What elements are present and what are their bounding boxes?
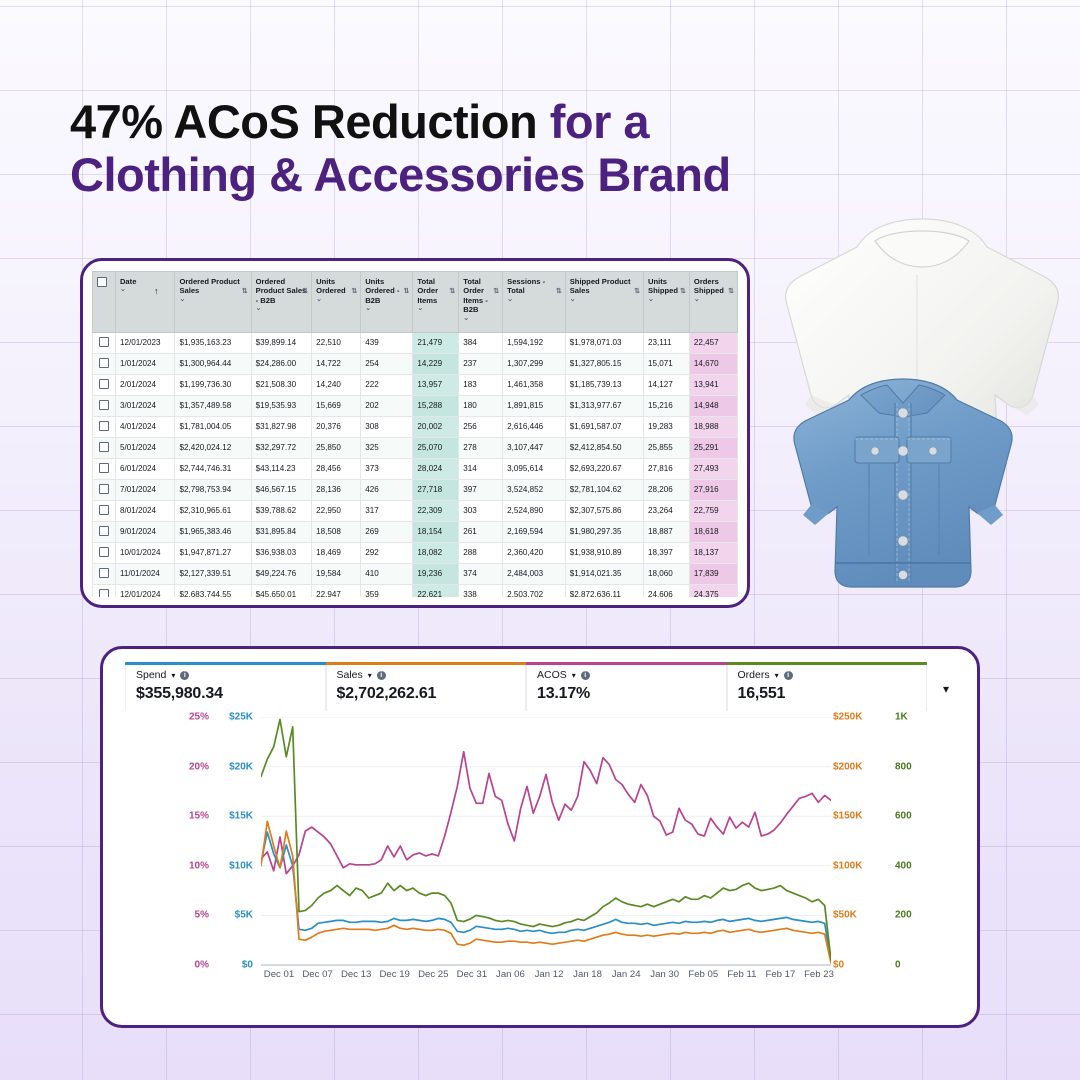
row-checkbox-cell[interactable] xyxy=(93,584,116,597)
row-checkbox-cell[interactable] xyxy=(93,521,116,542)
table-cell: $46,567.15 xyxy=(251,479,312,500)
collapse-panel-chevron-down-icon[interactable]: ▾ xyxy=(927,662,965,696)
row-checkbox[interactable] xyxy=(99,547,109,557)
sort-icon[interactable]: ⇅ xyxy=(728,288,734,297)
table-cell: 28,136 xyxy=(312,479,361,500)
x-axis-tick: Feb 17 xyxy=(765,969,795,980)
table-cell: 18,082 xyxy=(413,542,459,563)
chevron-down-icon[interactable]: ▾ xyxy=(171,671,175,680)
column-header-label: Total Order Items xyxy=(417,277,438,305)
table-row[interactable]: 10/01/2024$1,947,871.27$36,938.0318,4692… xyxy=(93,542,738,563)
table-cell: 237 xyxy=(459,353,503,374)
table-cell: 18,137 xyxy=(689,542,737,563)
table-cell: 2,524,890 xyxy=(503,500,566,521)
kpi-label-row-sales: Sales ▾ i xyxy=(337,669,516,681)
y-axis-acos: 0%5%10%15%20%25% xyxy=(165,717,209,965)
table-cell: 325 xyxy=(361,437,413,458)
sort-icon[interactable]: ⇅ xyxy=(556,288,562,297)
table-cell: 373 xyxy=(361,458,413,479)
sort-icon[interactable]: ⇅ xyxy=(351,288,357,297)
table-cell: $45,650.01 xyxy=(251,584,312,597)
column-header-units-shipped[interactable]: Units Shipped⌄⇅ xyxy=(644,272,690,333)
table-cell: 24,375 xyxy=(689,584,737,597)
table-cell: 22,510 xyxy=(312,332,361,353)
sort-icon[interactable]: ⇅ xyxy=(493,288,499,297)
table-cell: 22,950 xyxy=(312,500,361,521)
info-icon[interactable]: i xyxy=(581,671,590,680)
table-cell: 338 xyxy=(459,584,503,597)
chevron-down-icon[interactable]: ▾ xyxy=(368,671,372,680)
x-axis-dates: Dec 01Dec 07Dec 13Dec 19Dec 25Dec 31Jan … xyxy=(261,969,831,987)
x-axis-tick: Jan 06 xyxy=(496,969,525,980)
table-cell: $31,895.84 xyxy=(251,521,312,542)
x-axis-tick: Dec 19 xyxy=(380,969,410,980)
table-cell: 8/01/2024 xyxy=(115,500,174,521)
column-header-ordered-product-sales[interactable]: Ordered Product Sales⌄⇅ xyxy=(175,272,251,333)
table-cell: 21,479 xyxy=(413,332,459,353)
table-cell: 6/01/2024 xyxy=(115,458,174,479)
table-cell: 1,307,299 xyxy=(503,353,566,374)
chevron-down-icon[interactable]: ⌄ xyxy=(120,287,170,293)
x-axis-tick: Dec 31 xyxy=(457,969,487,980)
table-cell: 278 xyxy=(459,437,503,458)
table-cell: 7/01/2024 xyxy=(115,479,174,500)
chevron-down-icon[interactable]: ⌄ xyxy=(694,297,733,303)
kpi-card-orders[interactable]: Orders ▾ i 16,551 xyxy=(727,662,928,711)
table-cell: 28,206 xyxy=(644,479,690,500)
table-cell: 2,484,003 xyxy=(503,563,566,584)
chart-line-acos xyxy=(261,752,831,874)
table-cell: 3/01/2024 xyxy=(115,395,174,416)
row-checkbox-cell[interactable] xyxy=(93,458,116,479)
chevron-down-icon[interactable]: ⌄ xyxy=(316,297,356,303)
kpi-label-acos: ACOS xyxy=(537,669,567,681)
row-checkbox-cell[interactable] xyxy=(93,395,116,416)
table-cell: $32,297.72 xyxy=(251,437,312,458)
table-cell: 20,002 xyxy=(413,416,459,437)
table-cell: $1,978,071.03 xyxy=(565,332,643,353)
sort-icon[interactable]: ⇅ xyxy=(634,288,640,297)
x-axis-tick: Dec 13 xyxy=(341,969,371,980)
headline-line1-accent: for a xyxy=(550,95,649,148)
kpi-label-row-orders: Orders ▾ i xyxy=(738,669,917,681)
table-cell: 2,360,420 xyxy=(503,542,566,563)
x-axis-tick: Jan 18 xyxy=(573,969,602,980)
y-axis-sales: $0$50K$100K$150K$200K$250K xyxy=(833,717,893,965)
kpi-accent-bar-spend xyxy=(125,662,326,665)
table-cell: 292 xyxy=(361,542,413,563)
axis-tick-spend: $15K xyxy=(229,811,253,822)
table-cell: $2,683,744.55 xyxy=(175,584,251,597)
table-cell: 27,493 xyxy=(689,458,737,479)
table-cell: 23,264 xyxy=(644,500,690,521)
kpi-value-spend: $355,980.34 xyxy=(136,685,315,703)
headline-line2: Clothing & Accessories Brand xyxy=(70,149,860,202)
axis-tick-orders: 400 xyxy=(895,860,912,871)
row-checkbox-cell[interactable] xyxy=(93,500,116,521)
table-cell: 256 xyxy=(459,416,503,437)
table-cell: 14,722 xyxy=(312,353,361,374)
table-cell: 397 xyxy=(459,479,503,500)
table-cell: 19,584 xyxy=(312,563,361,584)
table-cell: $1,357,489.58 xyxy=(175,395,251,416)
column-header-units-ordered-b2b[interactable]: Units Ordered - B2B⌄⇅ xyxy=(361,272,413,333)
table-row[interactable]: 8/01/2024$2,310,965.61$39,788.6222,95031… xyxy=(93,500,738,521)
row-checkbox[interactable] xyxy=(99,421,109,431)
kpi-label-spend: Spend xyxy=(136,669,166,681)
chevron-down-icon[interactable]: ⌄ xyxy=(507,297,561,303)
column-header-orders-shipped[interactable]: Orders Shipped⌄⇅ xyxy=(689,272,737,333)
product-photos xyxy=(757,205,1080,645)
chevron-down-icon[interactable]: ⌄ xyxy=(570,297,639,303)
row-checkbox[interactable] xyxy=(99,358,109,368)
table-cell: $39,899.14 xyxy=(251,332,312,353)
table-cell: $1,781,004.05 xyxy=(175,416,251,437)
table-cell: 303 xyxy=(459,500,503,521)
table-cell: 288 xyxy=(459,542,503,563)
axis-tick-orders: 600 xyxy=(895,811,912,822)
table-cell: 261 xyxy=(459,521,503,542)
row-checkbox-cell[interactable] xyxy=(93,542,116,563)
table-cell: 15,288 xyxy=(413,395,459,416)
x-axis-tick: Jan 24 xyxy=(612,969,641,980)
table-cell: 25,850 xyxy=(312,437,361,458)
table-cell: $2,412,854.50 xyxy=(565,437,643,458)
axis-tick-acos: 5% xyxy=(195,910,209,921)
table-cell: $31,827.98 xyxy=(251,416,312,437)
table-cell: 439 xyxy=(361,332,413,353)
axis-tick-spend: $10K xyxy=(229,860,253,871)
table-cell: 4/01/2024 xyxy=(115,416,174,437)
table-cell: 269 xyxy=(361,521,413,542)
axis-tick-orders: 1K xyxy=(895,712,908,723)
table-cell: 18,887 xyxy=(644,521,690,542)
table-cell: 28,024 xyxy=(413,458,459,479)
table-cell: 2/01/2024 xyxy=(115,374,174,395)
table-cell: 254 xyxy=(361,353,413,374)
denim-jacket-photo xyxy=(794,379,1012,587)
kpi-card-sales[interactable]: Sales ▾ i $2,702,262.61 xyxy=(326,662,527,711)
table-cell: $36,938.03 xyxy=(251,542,312,563)
x-axis-tick: Dec 07 xyxy=(302,969,332,980)
axis-tick-acos: 20% xyxy=(189,761,209,772)
table-cell: $49,224.76 xyxy=(251,563,312,584)
row-checkbox-cell[interactable] xyxy=(93,479,116,500)
sort-icon[interactable]: ⇅ xyxy=(449,288,455,297)
row-checkbox-cell[interactable] xyxy=(93,332,116,353)
table-cell: 25,291 xyxy=(689,437,737,458)
axis-tick-sales: $150K xyxy=(833,811,862,822)
table-cell: 314 xyxy=(459,458,503,479)
info-icon[interactable]: i xyxy=(784,671,793,680)
table-row[interactable]: 11/01/2024$2,127,339.51$49,224.7619,5844… xyxy=(93,563,738,584)
axis-tick-sales: $250K xyxy=(833,712,862,723)
row-checkbox[interactable] xyxy=(99,379,109,389)
x-axis-tick: Dec 25 xyxy=(418,969,448,980)
column-header-label: Sessions - Total xyxy=(507,277,545,295)
table-row[interactable]: 2/01/2024$1,199,736.30$21,508.3014,24022… xyxy=(93,374,738,395)
column-header-label: Ordered Product Sales xyxy=(179,277,239,295)
table-cell: 22,309 xyxy=(413,500,459,521)
kpi-value-orders: 16,551 xyxy=(738,685,917,703)
table-header-row: Date⌄↑Ordered Product Sales⌄⇅Ordered Pro… xyxy=(93,272,738,333)
row-checkbox[interactable] xyxy=(99,526,109,536)
table-scroll-region[interactable]: Date⌄↑Ordered Product Sales⌄⇅Ordered Pro… xyxy=(92,271,738,597)
table-cell: 18,508 xyxy=(312,521,361,542)
kpi-value-acos: 13.17% xyxy=(537,685,716,703)
kpi-accent-bar-orders xyxy=(727,662,928,665)
table-cell: 2,169,594 xyxy=(503,521,566,542)
table-cell: 359 xyxy=(361,584,413,597)
table-cell: 374 xyxy=(459,563,503,584)
column-header-ordered-product-sales-b2b[interactable]: Ordered Product Sales - B2B⌄⇅ xyxy=(251,272,312,333)
table-cell: 10/01/2024 xyxy=(115,542,174,563)
row-checkbox[interactable] xyxy=(99,484,109,494)
chart-line-orders xyxy=(261,720,831,961)
table-cell: 18,988 xyxy=(689,416,737,437)
table-cell: $1,199,736.30 xyxy=(175,374,251,395)
table-cell: 13,957 xyxy=(413,374,459,395)
table-cell: $39,788.62 xyxy=(251,500,312,521)
row-checkbox[interactable] xyxy=(99,505,109,515)
table-cell: 18,154 xyxy=(413,521,459,542)
table-cell: 12/01/2024 xyxy=(115,584,174,597)
info-icon[interactable]: i xyxy=(180,671,189,680)
table-cell: 11/01/2024 xyxy=(115,563,174,584)
axis-tick-orders: 200 xyxy=(895,910,912,921)
table-cell: 15,669 xyxy=(312,395,361,416)
table-row[interactable]: 4/01/2024$1,781,004.05$31,827.9820,37630… xyxy=(93,416,738,437)
table-cell: 18,618 xyxy=(689,521,737,542)
table-cell: $2,127,339.51 xyxy=(175,563,251,584)
axis-tick-orders: 800 xyxy=(895,761,912,772)
row-checkbox-cell[interactable] xyxy=(93,374,116,395)
axis-tick-acos: 25% xyxy=(189,712,209,723)
kpi-card-acos[interactable]: ACOS ▾ i 13.17% xyxy=(526,662,727,711)
column-header-label: Units Shipped xyxy=(648,277,678,295)
table-cell: 27,718 xyxy=(413,479,459,500)
x-axis-tick: Jan 12 xyxy=(535,969,564,980)
headline-line1-black: 47% ACoS Reduction xyxy=(70,95,550,148)
table-cell: $21,508.30 xyxy=(251,374,312,395)
sort-icon[interactable]: ⇅ xyxy=(680,288,686,297)
column-header-label: Units Ordered xyxy=(316,277,346,295)
chevron-down-icon[interactable]: ⌄ xyxy=(417,306,454,312)
campaign-chart-panel: Spend ▾ i $355,980.34 Sales ▾ i $2,702,2… xyxy=(100,646,980,1028)
table-cell: 27,816 xyxy=(644,458,690,479)
axis-tick-acos: 0% xyxy=(195,960,209,971)
column-header-label: Date xyxy=(120,277,136,286)
table-cell: 2,503,702 xyxy=(503,584,566,597)
table-cell: 1,594,192 xyxy=(503,332,566,353)
chevron-down-icon[interactable]: ⌄ xyxy=(463,316,498,322)
axis-tick-acos: 15% xyxy=(189,811,209,822)
column-header-label: Units Ordered - B2B xyxy=(365,277,399,305)
table-row[interactable]: 3/01/2024$1,357,489.58$19,535.9315,66920… xyxy=(93,395,738,416)
row-checkbox-cell[interactable] xyxy=(93,563,116,584)
info-icon[interactable]: i xyxy=(377,671,386,680)
table-cell: 180 xyxy=(459,395,503,416)
table-cell: 22,947 xyxy=(312,584,361,597)
table-cell: $1,300,964.44 xyxy=(175,353,251,374)
table-cell: 3,095,614 xyxy=(503,458,566,479)
table-cell: 20,376 xyxy=(312,416,361,437)
table-cell: 28,456 xyxy=(312,458,361,479)
table-cell: 183 xyxy=(459,374,503,395)
row-checkbox[interactable] xyxy=(99,400,109,410)
table-cell: 202 xyxy=(361,395,413,416)
chevron-down-icon[interactable]: ⌄ xyxy=(648,297,685,303)
kpi-label-sales: Sales xyxy=(337,669,363,681)
table-cell: 19,283 xyxy=(644,416,690,437)
kpi-accent-bar-sales xyxy=(326,662,527,665)
table-cell: $2,307,575.86 xyxy=(565,500,643,521)
column-header-label: Ordered Product Sales - B2B xyxy=(256,277,307,305)
table-cell: 9/01/2024 xyxy=(115,521,174,542)
x-axis-tick: Dec 01 xyxy=(264,969,294,980)
table-cell: $2,872,636.11 xyxy=(565,584,643,597)
table-cell: $1,327,805.15 xyxy=(565,353,643,374)
kpi-value-sales: $2,702,262.61 xyxy=(337,685,516,703)
chevron-down-icon[interactable]: ⌄ xyxy=(256,306,308,312)
table-cell: 308 xyxy=(361,416,413,437)
table-row[interactable]: 1/01/2024$1,300,964.44$24,286.0014,72225… xyxy=(93,353,738,374)
row-checkbox[interactable] xyxy=(99,337,109,347)
chevron-down-icon[interactable]: ▾ xyxy=(572,671,576,680)
table-cell: $1,947,871.27 xyxy=(175,542,251,563)
table-row[interactable]: 7/01/2024$2,798,753.94$46,567.1528,13642… xyxy=(93,479,738,500)
sort-icon[interactable]: ⇅ xyxy=(242,288,248,297)
kpi-accent-bar-acos xyxy=(526,662,727,665)
axis-tick-spend: $25K xyxy=(229,712,253,723)
row-checkbox[interactable] xyxy=(99,463,109,473)
table-cell: 22,457 xyxy=(689,332,737,353)
row-checkbox-cell[interactable] xyxy=(93,416,116,437)
kpi-card-spend[interactable]: Spend ▾ i $355,980.34 xyxy=(125,662,326,711)
apparel-illustration xyxy=(757,205,1080,645)
table-cell: 384 xyxy=(459,332,503,353)
kpi-label-row-spend: Spend ▾ i xyxy=(136,669,315,681)
axis-tick-acos: 10% xyxy=(189,860,209,871)
table-cell: 1/01/2024 xyxy=(115,353,174,374)
table-cell: 22,621 xyxy=(413,584,459,597)
table-cell: $2,744,746.31 xyxy=(175,458,251,479)
table-cell: $1,914,021.35 xyxy=(565,563,643,584)
x-axis-tick: Feb 23 xyxy=(804,969,834,980)
column-header-units-ordered[interactable]: Units Ordered⌄⇅ xyxy=(312,272,361,333)
table-row[interactable]: 5/01/2024$2,420,024.12$32,297.7225,85032… xyxy=(93,437,738,458)
table-cell: 14,948 xyxy=(689,395,737,416)
table-cell: $2,798,753.94 xyxy=(175,479,251,500)
kpi-card-row: Spend ▾ i $355,980.34 Sales ▾ i $2,702,2… xyxy=(125,662,965,711)
row-checkbox[interactable] xyxy=(99,568,109,578)
column-header-shipped-product-sales[interactable]: Shipped Product Sales⌄⇅ xyxy=(565,272,643,333)
sort-icon[interactable]: ⇅ xyxy=(302,288,308,297)
table-cell: $1,938,910.89 xyxy=(565,542,643,563)
table-cell: 25,070 xyxy=(413,437,459,458)
table-cell: 18,469 xyxy=(312,542,361,563)
table-cell: 1,891,815 xyxy=(503,395,566,416)
table-cell: $2,781,104.62 xyxy=(565,479,643,500)
x-axis-tick: Feb 05 xyxy=(688,969,718,980)
table-cell: 14,127 xyxy=(644,374,690,395)
table-cell: 1,461,358 xyxy=(503,374,566,395)
kpi-label-row-acos: ACOS ▾ i xyxy=(537,669,716,681)
table-cell: $1,980,297.35 xyxy=(565,521,643,542)
table-cell: $1,313,977.67 xyxy=(565,395,643,416)
chevron-down-icon[interactable]: ▾ xyxy=(775,671,779,680)
table-cell: 426 xyxy=(361,479,413,500)
table-row[interactable]: 6/01/2024$2,744,746.31$43,114.2328,45637… xyxy=(93,458,738,479)
column-header-label: Total Order Items - B2B xyxy=(463,277,487,314)
performance-table-panel: Date⌄↑Ordered Product Sales⌄⇅Ordered Pro… xyxy=(80,258,750,608)
column-header-total-order-items[interactable]: Total Order Items⌄⇅ xyxy=(413,272,459,333)
row-checkbox[interactable] xyxy=(99,442,109,452)
sort-icon[interactable]: ⇅ xyxy=(404,288,410,297)
table-cell: 14,670 xyxy=(689,353,737,374)
table-cell: 3,524,852 xyxy=(503,479,566,500)
table-cell: 15,071 xyxy=(644,353,690,374)
table-cell: $1,935,163.23 xyxy=(175,332,251,353)
table-cell: 410 xyxy=(361,563,413,584)
axis-tick-spend: $20K xyxy=(229,761,253,772)
x-axis-tick: Feb 11 xyxy=(727,969,756,980)
row-checkbox[interactable] xyxy=(99,589,109,597)
table-cell: 24,606 xyxy=(644,584,690,597)
axis-tick-sales: $0 xyxy=(833,960,844,971)
table-cell: 15,216 xyxy=(644,395,690,416)
table-row[interactable]: 12/01/2024$2,683,744.55$45,650.0122,9473… xyxy=(93,584,738,597)
table-cell: $2,693,220.67 xyxy=(565,458,643,479)
column-header-total-order-items-b2b[interactable]: Total Order Items - B2B⌄⇅ xyxy=(459,272,503,333)
axis-tick-sales: $100K xyxy=(833,860,862,871)
x-axis-tick: Jan 30 xyxy=(650,969,679,980)
column-header-label: Orders Shipped xyxy=(694,277,724,295)
table-cell: 12/01/2023 xyxy=(115,332,174,353)
table-cell: 317 xyxy=(361,500,413,521)
table-cell: 27,916 xyxy=(689,479,737,500)
table-cell: 23,111 xyxy=(644,332,690,353)
column-header-date[interactable]: Date⌄↑ xyxy=(115,272,174,333)
table-row[interactable]: 9/01/2024$1,965,383.46$31,895.8418,50826… xyxy=(93,521,738,542)
chevron-down-icon[interactable]: ⌄ xyxy=(365,306,408,312)
table-cell: $1,965,383.46 xyxy=(175,521,251,542)
row-checkbox-cell[interactable] xyxy=(93,353,116,374)
row-checkbox-cell[interactable] xyxy=(93,437,116,458)
table-cell: $2,420,024.12 xyxy=(175,437,251,458)
column-header-label: Shipped Product Sales xyxy=(570,277,631,295)
table-row[interactable]: 12/01/2023$1,935,163.23$39,899.1422,5104… xyxy=(93,332,738,353)
chart-plot-area[interactable] xyxy=(261,717,831,965)
axis-tick-sales: $50K xyxy=(833,910,857,921)
column-header-sessions-total[interactable]: Sessions - Total⌄⇅ xyxy=(503,272,566,333)
table-cell: 13,941 xyxy=(689,374,737,395)
table-cell: 19,236 xyxy=(413,563,459,584)
sort-ascending-icon[interactable]: ↑ xyxy=(154,286,159,297)
select-all-checkbox[interactable] xyxy=(97,277,107,287)
page-title: 47% ACoS Reduction for a Clothing & Acce… xyxy=(70,96,860,201)
table-cell: 3,107,447 xyxy=(503,437,566,458)
table-cell: 18,060 xyxy=(644,563,690,584)
table-cell: $1,185,739.13 xyxy=(565,374,643,395)
select-all-header[interactable] xyxy=(93,272,116,333)
table-cell: 14,229 xyxy=(413,353,459,374)
y-axis-spend: $0$5K$10K$15K$20K$25K xyxy=(209,717,253,965)
chevron-down-icon[interactable]: ⌄ xyxy=(179,297,246,303)
axis-tick-sales: $200K xyxy=(833,761,862,772)
table-cell: 17,839 xyxy=(689,563,737,584)
kpi-label-orders: Orders xyxy=(738,669,770,681)
